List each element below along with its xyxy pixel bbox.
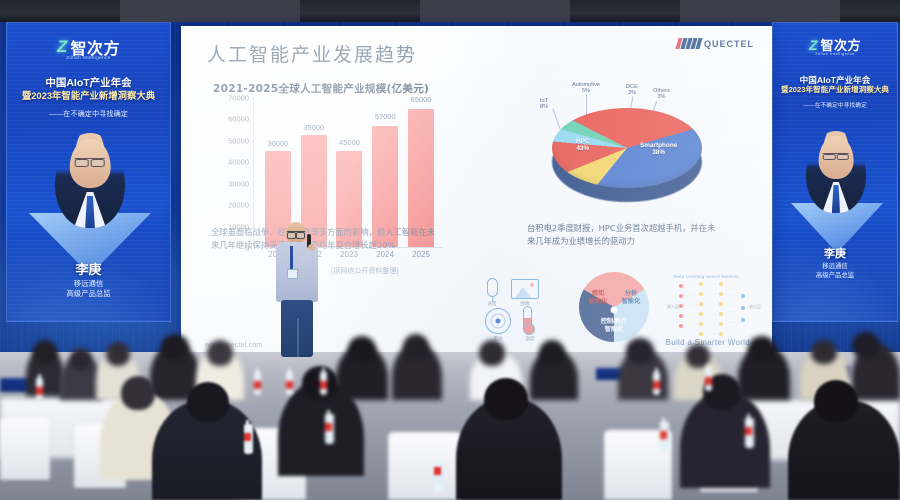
- pie-callout-others: Others 3%: [653, 88, 670, 101]
- pie-callout-label: Others: [653, 88, 670, 94]
- presenter-speaker: [272, 222, 322, 357]
- icon-caption: 语音: [481, 301, 503, 307]
- tri-pie-label-text: 智能化: [622, 298, 641, 305]
- y-tick: 20000: [228, 201, 249, 210]
- bar-item: 57000: [372, 98, 398, 247]
- audience-head: [121, 376, 155, 410]
- water-bottle: [254, 372, 261, 395]
- speaker-portrait-left: [55, 133, 125, 228]
- banner-title-left: 中国AIoT产业年会 暨2023年智能产业新增洞察大典: [7, 77, 170, 101]
- audience-head: [626, 338, 654, 364]
- bar-item: 65000: [408, 98, 434, 247]
- pie-slice-value: 43%: [576, 145, 589, 152]
- ceiling-bar: [0, 0, 900, 22]
- pie-callout-iot: IoT 8%: [540, 98, 548, 111]
- left-stage-banner: Z 智次方 Zillion Intelligence 中国AIoT产业年会 暨2…: [6, 22, 171, 322]
- pie-callout-label: IoT: [540, 98, 548, 104]
- banner-logo-en-right: Zillion Intelligence: [773, 51, 897, 56]
- water-bottle: [286, 372, 293, 395]
- pie-callout-value: 8%: [540, 104, 548, 110]
- slide-title: 人工智能产业发展趋势: [207, 40, 417, 67]
- speaker-portrait-right: [806, 131, 866, 213]
- neural-network-diagram: Deep Learning Neural Network 输入层 输出层: [667, 274, 761, 346]
- audience-head: [814, 380, 858, 422]
- tri-pie-label-text: 智能化: [605, 326, 624, 333]
- audience-head: [33, 340, 57, 364]
- bar-value-label: 45000: [339, 138, 360, 147]
- banner-subtitle-right: ——在不确定中寻找确定: [773, 101, 897, 109]
- bar-value-label: 30000: [267, 139, 288, 148]
- audience-head: [484, 378, 528, 420]
- pie-slice-label: Smartphone: [640, 142, 677, 149]
- audience-head: [187, 382, 229, 422]
- presenter-hand: [308, 244, 315, 251]
- water-bottle: [745, 418, 754, 448]
- audience-chair: [388, 432, 462, 500]
- audience-head: [403, 334, 429, 360]
- slide-slogan: Build a Smarter World: [666, 338, 750, 347]
- water-bottle: [660, 422, 669, 452]
- tri-pie-label-control: 控制/执行 智能化: [590, 318, 638, 334]
- glasses-icon: [75, 158, 105, 164]
- presenter-legs: [281, 300, 313, 357]
- speaker-role-right: 移远通信 高级产品总监: [773, 263, 897, 280]
- water-bottle: [36, 378, 43, 401]
- icon-caption: 温度: [519, 336, 541, 342]
- water-bottle: [705, 368, 712, 391]
- banner-title-line1: 中国AIoT产业年会: [7, 77, 170, 90]
- ceiling-light-1: [120, 0, 300, 22]
- pie-callout-value: 3%: [657, 94, 665, 100]
- radar-icon: [485, 308, 511, 334]
- speaker-name-right: 李庚: [773, 245, 897, 261]
- banner-logo-en-left: Zillion Intelligence: [7, 55, 170, 60]
- chart-source-caption: (据网络公开资料整理): [331, 266, 399, 276]
- speaker-title-right: 高级产品总监: [773, 272, 897, 281]
- audience-head: [106, 342, 130, 366]
- sensor-icon-group: 语音 图像 雷达 温度: [481, 274, 557, 346]
- tri-pie-label-text: 分析: [625, 290, 637, 297]
- tri-pie-label-text: 控制/执行: [601, 318, 627, 325]
- pie-callout-label: Automotive: [572, 82, 600, 88]
- banner-title-right: 中国AIoT产业年会 暨2023年智能产业新增洞察大典: [773, 75, 897, 95]
- tri-pie-label-analysis: 分析 智能化: [617, 290, 645, 306]
- water-bottle: [434, 458, 444, 492]
- y-tick: 70000: [228, 94, 249, 103]
- conference-photo-scene: Z 智次方 Zillion Intelligence 中国AIoT产业年会 暨2…: [0, 0, 900, 500]
- pie-slice-hpc: HPC 43%: [576, 138, 590, 153]
- ceiling-light-2: [420, 0, 570, 22]
- portrait-face-left: [70, 139, 111, 188]
- speaker-name-left: 李庚: [7, 259, 170, 278]
- audience-head: [161, 334, 189, 360]
- left-body-note: 全球虽面临战争、经济下滑等多方面的影响，但人工智能在未来几年继续保持高速发展，平…: [211, 226, 441, 252]
- pie-body-note: 台积电2季度财报，HPC业务首次超越手机，并在未来几年成为业绩增长的驱动力: [527, 222, 717, 248]
- banner-title-line1-right: 中国AIoT产业年会: [773, 75, 897, 85]
- projection-screen: 人工智能产业发展趋势 QUECTEL 2021-2025全球人工智能产业规模(亿…: [181, 26, 772, 357]
- audience-chair: [0, 418, 50, 480]
- tri-pie-center: [611, 307, 618, 314]
- tri-pie-label-perception: 感知 智能化: [584, 290, 612, 306]
- water-bottle: [653, 372, 660, 395]
- quectel-logo: QUECTEL: [677, 38, 754, 49]
- portrait-face-right: [819, 136, 854, 179]
- water-bottle: [244, 424, 253, 454]
- pie-3d-body: HPC 43% Smartphone 38%: [552, 108, 702, 194]
- bar-item: 45000: [336, 98, 362, 247]
- audience-head: [539, 340, 565, 366]
- audience-head: [811, 340, 837, 364]
- y-tick: 40000: [228, 158, 249, 167]
- water-bottle: [325, 414, 334, 444]
- pie-slice-smartphone: Smartphone 38%: [640, 142, 677, 157]
- speaker-title-left: 高级产品总监: [7, 289, 170, 299]
- pie-callout-automotive: Automotive 5%: [572, 82, 600, 95]
- z-mark-icon: Z: [57, 37, 67, 57]
- banner-title-line2-right: 暨2023年智能产业新增洞察大典: [773, 85, 897, 94]
- audience-head: [479, 340, 505, 366]
- microphone-icon: [487, 278, 498, 297]
- ceiling-light-3: [680, 0, 840, 22]
- banner-subtitle-left: ——在不确定中寻找确定: [7, 109, 170, 119]
- pie-slice-value: 38%: [652, 149, 665, 156]
- speaker-company-right: 移远通信: [773, 263, 897, 272]
- pie-callout-dce: DCE 3%: [626, 84, 638, 97]
- tri-pie-label-text: 感知: [592, 290, 604, 297]
- water-bottle: [320, 372, 327, 395]
- audience-head: [748, 336, 776, 362]
- speaker-company-left: 移远通信: [7, 279, 170, 289]
- right-stage-banner: Z 智次方 Zillion Intelligence 中国AIoT产业年会 暨2…: [772, 22, 898, 322]
- bar-value-label: 65000: [411, 95, 432, 104]
- audience-head: [207, 340, 233, 366]
- y-tick: 30000: [228, 179, 249, 188]
- audience-head: [70, 348, 92, 370]
- y-tick: 60000: [228, 115, 249, 124]
- audience-head: [852, 332, 880, 358]
- quectel-wordmark: QUECTEL: [704, 39, 754, 49]
- pie-callout-label: DCE: [626, 84, 638, 90]
- pie-slice-label: HPC: [576, 138, 590, 145]
- presenter-lanyard: [290, 246, 293, 272]
- glasses-icon: [823, 153, 849, 159]
- bar-value-label: 35000: [303, 123, 324, 132]
- tri-pie-label-text: 智能化: [589, 298, 608, 305]
- pie-chart: IoT 8% Automotive 5% DCE 3% Others 3%: [516, 82, 746, 212]
- banner-title-line2: 暨2023年智能产业新增洞察大典: [7, 90, 170, 101]
- glasses-icon: [287, 231, 305, 236]
- audience-head: [348, 336, 376, 362]
- y-tick: 50000: [228, 136, 249, 145]
- pie-slices: [552, 108, 702, 188]
- bar-value-label: 57000: [375, 112, 396, 121]
- nn-edges: [667, 274, 761, 346]
- image-icon: [511, 279, 539, 299]
- speaker-role-left: 移远通信 高级产品总监: [7, 279, 170, 299]
- thermometer-icon: [523, 306, 532, 332]
